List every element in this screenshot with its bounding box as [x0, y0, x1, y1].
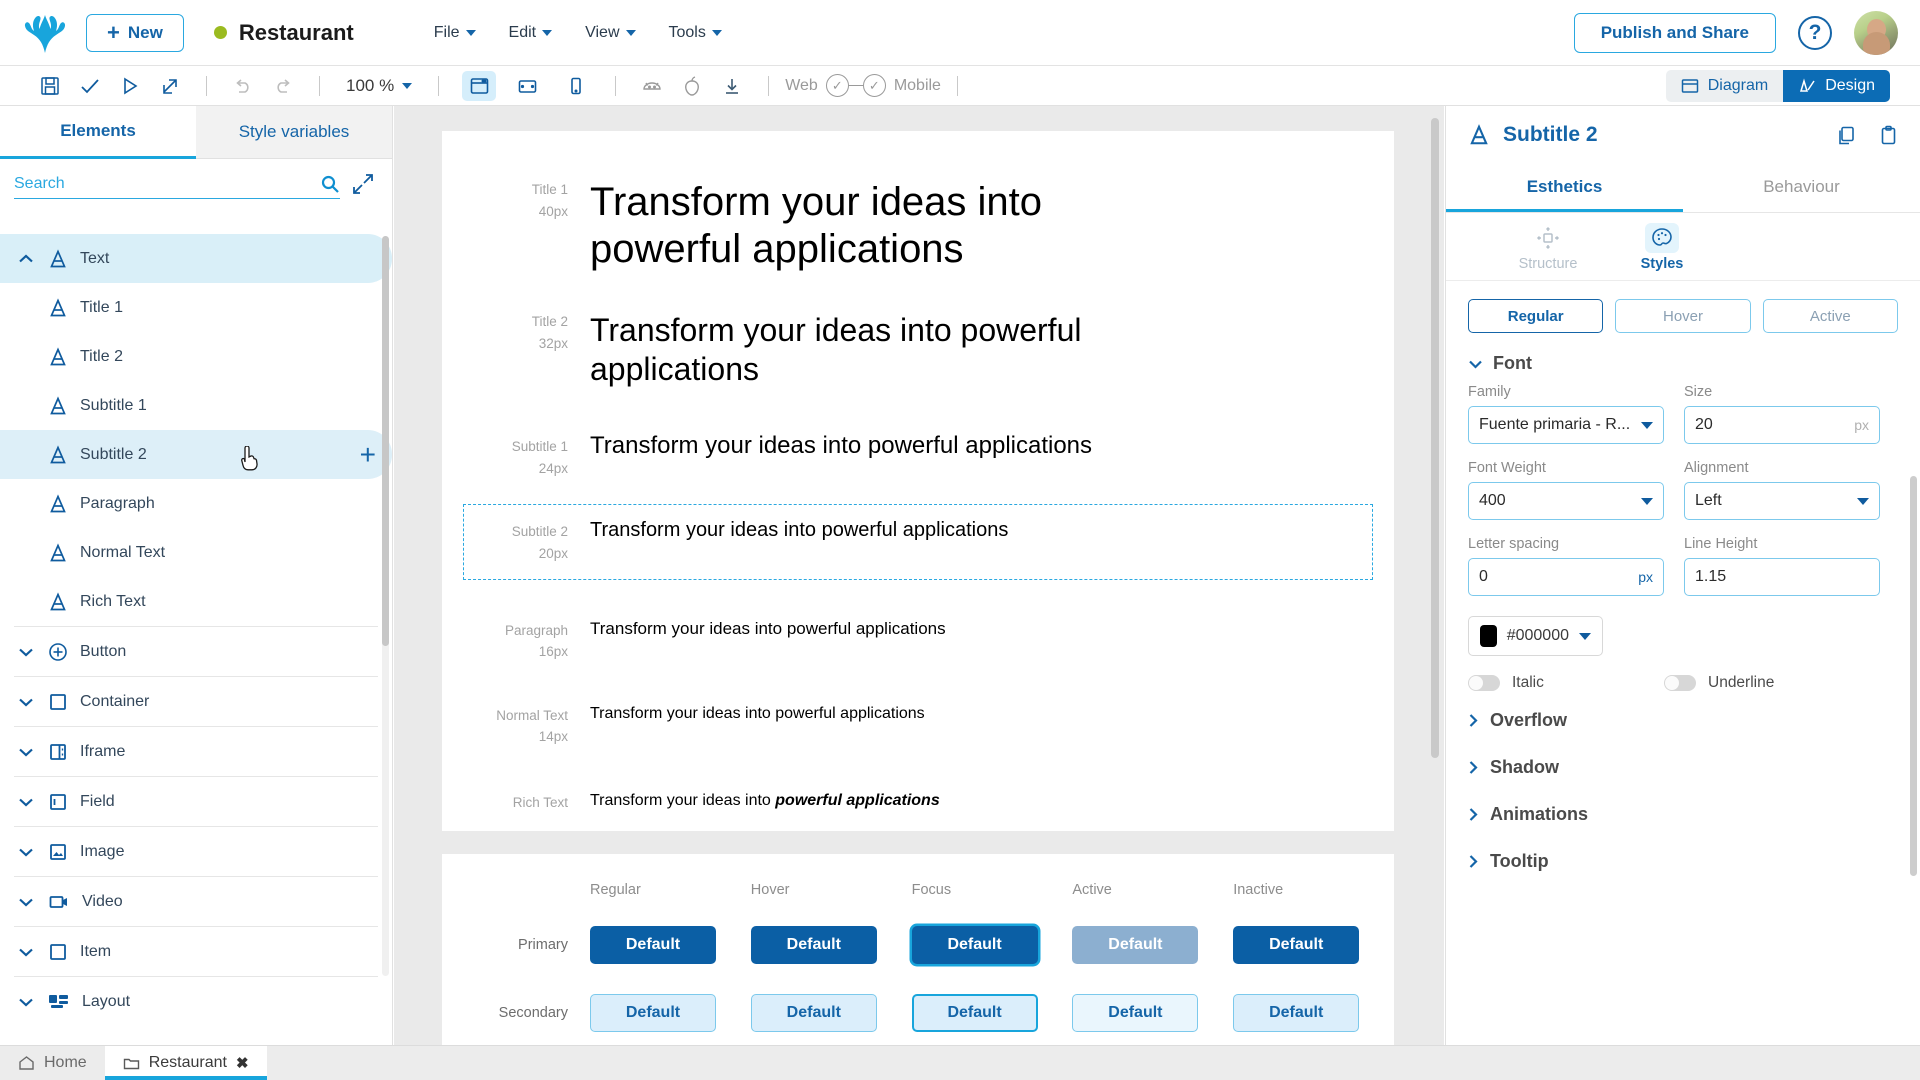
letter-spacing-unit: px [1638, 569, 1653, 585]
android-icon[interactable] [632, 70, 672, 102]
section-tooltip[interactable]: Tooltip [1446, 825, 1920, 872]
sidebar-group-label: Layout [82, 993, 130, 1011]
menu-bar: File Edit View Tools [434, 24, 722, 42]
chevron-down-icon[interactable] [16, 947, 36, 957]
column-header: Focus [912, 882, 1073, 898]
web-mobile-toggle[interactable]: ✓ ✓ [826, 74, 886, 97]
typography-size: 20px [464, 543, 568, 565]
page-title: Restaurant [239, 20, 354, 46]
color-swatch [1480, 625, 1497, 647]
table-cell: Default [590, 994, 751, 1032]
zoom-level-selector[interactable]: 100 % [346, 76, 412, 96]
canvas[interactable]: Title 1 40px Transform your ideas into p… [394, 106, 1444, 1045]
text-a-icon [48, 249, 68, 269]
image-icon [48, 842, 68, 862]
plus-circle-icon [48, 642, 68, 662]
alignment-value: Left [1695, 492, 1857, 510]
font-section-header[interactable]: Font [1446, 333, 1920, 378]
sidebar-group-field[interactable]: Field [0, 777, 392, 826]
field-label: Letter spacing [1468, 536, 1664, 552]
column-header: Regular [590, 882, 751, 898]
table-cell: Default [751, 994, 912, 1032]
sidebar-scrollbar-thumb[interactable] [382, 236, 389, 646]
section-animations-label: Animations [1490, 804, 1588, 825]
toggle-connector [849, 85, 863, 87]
new-button[interactable]: + New [86, 14, 184, 52]
tab-style-variables-label: Style variables [239, 122, 350, 142]
square-icon [48, 942, 68, 962]
column-header: Inactive [1233, 882, 1394, 898]
undo-icon[interactable] [223, 70, 263, 102]
underline-switch[interactable] [1664, 675, 1696, 691]
size-value: 20 [1695, 416, 1848, 434]
typography-sample: Transform your ideas into powerful appli… [590, 432, 1394, 460]
search-icon[interactable] [320, 174, 340, 194]
sidebar-item-label: Paragraph [80, 495, 155, 513]
demo-button-secondary-hover[interactable]: Default [751, 994, 877, 1032]
mode-diagram-label: Diagram [1708, 77, 1768, 95]
typography-size: 14px [442, 726, 568, 748]
field-line-height: Line Height 1.15 [1684, 536, 1880, 596]
palette-icon [1645, 223, 1679, 253]
chevron-down-icon[interactable] [16, 847, 36, 857]
alignment-select[interactable]: Left [1684, 482, 1880, 520]
typography-name: Title 1 [442, 179, 568, 201]
chevron-down-icon [1579, 633, 1591, 640]
properties-panel: Subtitle 2 Esthetics Behaviour [1445, 106, 1920, 1045]
state-active-button[interactable]: Active [1763, 299, 1898, 333]
close-icon[interactable]: ✖ [236, 1054, 249, 1072]
divider [206, 76, 207, 96]
typography-sample: Transform your ideas into powerful appli… [590, 792, 1394, 810]
chevron-up-icon[interactable] [16, 254, 36, 264]
text-a-icon [48, 592, 68, 612]
subtab-structure-label: Structure [1498, 256, 1598, 272]
sidebar-item-paragraph[interactable]: Paragraph [0, 479, 392, 528]
menu-view[interactable]: View [585, 24, 635, 42]
field-font-weight: Font Weight 400 [1468, 460, 1664, 520]
app-logo[interactable] [22, 12, 68, 54]
sidebar-item-title-2[interactable]: Title 2 [0, 332, 392, 381]
section-overflow[interactable]: Overflow [1446, 692, 1920, 731]
typography-row-subtitle-1[interactable]: Subtitle 1 24px Transform your ideas int… [442, 388, 1394, 479]
sidebar-group-iframe[interactable]: Iframe [0, 727, 392, 776]
tab-behaviour-label: Behaviour [1763, 177, 1840, 196]
subtab-structure[interactable]: Structure [1498, 223, 1598, 272]
divider [768, 76, 769, 96]
chevron-down-icon [1857, 498, 1869, 505]
sidebar-group-video[interactable]: Video [0, 877, 392, 926]
mobile-check-icon[interactable]: ✓ [863, 74, 886, 97]
text-a-icon [48, 543, 68, 563]
demo-button-primary-inactive[interactable]: Default [1233, 926, 1359, 964]
demo-button-secondary-regular[interactable]: Default [590, 994, 716, 1032]
typography-meta: Paragraph 16px [442, 619, 590, 663]
properties-tabs: Esthetics Behaviour [1446, 164, 1920, 213]
typography-row-subtitle-2[interactable]: Subtitle 2 20px Transform your ideas int… [464, 505, 1372, 578]
chevron-down-icon [402, 83, 412, 89]
field-label: Font Weight [1468, 460, 1664, 476]
mode-diagram-button[interactable]: Diagram [1666, 70, 1783, 102]
menu-tools[interactable]: Tools [669, 24, 722, 42]
table-cell: Default [912, 994, 1073, 1032]
chevron-down-icon [542, 30, 552, 36]
tablet-icon[interactable] [510, 71, 544, 101]
table-cell: Default [912, 926, 1073, 964]
field-label: Alignment [1684, 460, 1880, 476]
tab-style-variables[interactable]: Style variables [196, 106, 392, 159]
text-a-icon [48, 298, 68, 318]
line-height-value: 1.15 [1695, 568, 1869, 586]
mode-design-label: Design [1825, 77, 1875, 95]
sidebar-group-label: Container [80, 693, 149, 711]
typography-meta: Subtitle 2 20px [464, 519, 590, 564]
header-actions [1836, 125, 1898, 146]
font-toggles: Italic Underline [1446, 656, 1920, 692]
help-icon[interactable]: ? [1798, 16, 1832, 50]
chevron-down-icon[interactable] [16, 747, 36, 757]
properties-subtabs: Structure Styles [1446, 213, 1920, 281]
toggle-underline[interactable]: Underline [1664, 674, 1860, 692]
field-label: Family [1468, 384, 1664, 400]
typography-meta: Title 1 40px [442, 179, 590, 222]
menu-view-label: View [585, 24, 619, 42]
iframe-icon [48, 742, 68, 762]
font-section-title: Font [1493, 353, 1532, 374]
field-letter-spacing: Letter spacing 0 px [1468, 536, 1664, 596]
check-icon[interactable] [70, 70, 110, 102]
menu-edit-label: Edit [509, 24, 537, 42]
left-panel-tabs: Elements Style variables [0, 106, 392, 159]
web-check-icon[interactable]: ✓ [826, 74, 849, 97]
subtab-styles[interactable]: Styles [1612, 223, 1712, 272]
sidebar-group-label: Item [80, 943, 111, 961]
play-icon[interactable] [110, 70, 150, 102]
layout-icon [48, 993, 70, 1011]
sidebar-item-title-1[interactable]: Title 1 [0, 283, 392, 332]
search-field-wrapper[interactable] [14, 169, 340, 199]
tab-esthetics[interactable]: Esthetics [1446, 164, 1683, 212]
typography-size: 16px [442, 641, 568, 663]
properties-scrollbar-thumb[interactable] [1910, 476, 1917, 876]
typography-row-rich-text[interactable]: Rich Text Transform your ideas into powe… [442, 748, 1394, 814]
typography-sample: Transform your ideas into powerful appli… [590, 311, 1230, 388]
sidebar-group-layout[interactable]: Layout [0, 977, 392, 1026]
sidebar-item-label: Normal Text [80, 544, 165, 562]
table-cell: Default [1233, 926, 1394, 964]
divider [319, 76, 320, 96]
field-label: Line Height [1684, 536, 1880, 552]
typography-card: Title 1 40px Transform your ideas into p… [442, 131, 1394, 831]
font-weight-value: 400 [1479, 492, 1641, 510]
sidebar-item-label: Subtitle 2 [80, 446, 147, 464]
text-a-icon [48, 445, 68, 465]
menu-file[interactable]: File [434, 24, 476, 42]
elements-tree[interactable]: Text Title 1 Title 2 Subti [0, 234, 392, 1045]
demo-button-primary-focus[interactable]: Default [912, 926, 1038, 964]
sidebar-item-label: Subtitle 1 [80, 397, 147, 415]
text-a-icon [1468, 124, 1490, 146]
line-height-input[interactable]: 1.15 [1684, 558, 1880, 596]
subtab-styles-label: Styles [1612, 256, 1712, 272]
section-overflow-label: Overflow [1490, 710, 1567, 731]
field-label: Size [1684, 384, 1880, 400]
sidebar-group-label: Image [80, 843, 124, 861]
chevron-down-icon[interactable] [16, 697, 36, 707]
font-color-picker[interactable]: #000000 [1468, 616, 1603, 656]
top-bar: + New Restaurant File Edit View Tools Pu… [0, 0, 1920, 66]
menu-tools-label: Tools [669, 24, 706, 42]
letter-spacing-input[interactable]: 0 px [1468, 558, 1664, 596]
table-cell: Default [1072, 926, 1233, 964]
taskbar-tab-home[interactable]: Home [0, 1046, 105, 1080]
field-alignment: Alignment Left [1684, 460, 1880, 520]
chevron-down-icon [712, 30, 722, 36]
mobile-label: Mobile [894, 77, 941, 95]
export-icon[interactable] [150, 70, 190, 102]
buttons-state-table: Regular Hover Focus Active Inactive Prim… [442, 854, 1394, 1032]
chevron-right-icon [1468, 807, 1479, 822]
column-header: Active [1072, 882, 1233, 898]
save-icon[interactable] [30, 70, 70, 102]
plus-icon: + [107, 22, 120, 44]
demo-button-secondary-inactive[interactable]: Default [1233, 994, 1359, 1032]
publish-button-label: Publish and Share [1601, 23, 1749, 43]
mode-switch: Diagram Design [1666, 70, 1890, 102]
color-value: #000000 [1507, 627, 1569, 645]
table-cell: Default [1072, 994, 1233, 1032]
sidebar-group-text-label: Text [80, 250, 109, 268]
sidebar-item-normal-text[interactable]: Normal Text [0, 528, 392, 577]
chevron-down-icon [1641, 498, 1653, 505]
sidebar-group-container[interactable]: Container [0, 677, 392, 726]
demo-button-primary-hover[interactable]: Default [751, 926, 877, 964]
new-button-label: New [128, 23, 163, 43]
typography-row-title-1[interactable]: Title 1 40px Transform your ideas into p… [442, 131, 1394, 273]
toggle-italic[interactable]: Italic [1468, 674, 1664, 692]
typography-size: 24px [442, 458, 568, 480]
chevron-down-icon[interactable] [16, 897, 36, 907]
table-cell: Default [590, 926, 751, 964]
mode-design-button[interactable]: Design [1783, 70, 1890, 102]
properties-title: Subtitle 2 [1503, 123, 1598, 147]
demo-button-primary-regular[interactable]: Default [590, 926, 716, 964]
properties-header: Subtitle 2 [1446, 106, 1920, 164]
text-a-icon [48, 494, 68, 514]
chevron-down-icon [1641, 422, 1653, 429]
italic-switch[interactable] [1468, 675, 1500, 691]
typography-row-paragraph[interactable]: Paragraph 16px Transform your ideas into… [442, 579, 1394, 663]
chevron-down-icon [626, 30, 636, 36]
chevron-right-icon [1468, 760, 1479, 775]
typography-sample: Transform your ideas into powerful appli… [590, 619, 1394, 639]
search-row [0, 159, 392, 209]
typography-meta: Rich Text [442, 792, 590, 814]
chevron-right-icon [1468, 854, 1479, 869]
toolbar: 100 % Web [0, 66, 1920, 106]
divider [615, 76, 616, 96]
typography-name: Paragraph [442, 620, 568, 642]
typography-row-normal-text[interactable]: Normal Text 14px Transform your ideas in… [442, 663, 1394, 748]
family-value: Fuente primaria - R... [1479, 416, 1641, 434]
table-row: Secondary Default Default Default Defaul… [442, 994, 1394, 1032]
menu-edit[interactable]: Edit [509, 24, 553, 42]
rich-text-plain: Transform your ideas into [590, 792, 775, 809]
font-fields: Family Fuente primaria - R... Size 20 px… [1446, 378, 1920, 612]
letter-spacing-value: 0 [1479, 568, 1632, 586]
sidebar-group-label: Field [80, 793, 115, 811]
style-state-selector: Regular Hover Active [1446, 281, 1920, 333]
left-panel: Elements Style variables [0, 106, 393, 1045]
mobile-icon[interactable] [558, 71, 592, 101]
tab-behaviour[interactable]: Behaviour [1683, 164, 1920, 212]
typography-sample: Transform your ideas into powerful appli… [590, 519, 1372, 542]
typography-row-title-2[interactable]: Title 2 32px Transform your ideas into p… [442, 273, 1394, 388]
expand-icon[interactable] [352, 173, 374, 195]
sidebar-item-label: Title 1 [80, 299, 123, 317]
row-header: Primary [442, 937, 590, 953]
table-cell: Default [1233, 994, 1394, 1032]
chevron-down-icon[interactable] [16, 797, 36, 807]
sidebar-group-image[interactable]: Image [0, 827, 392, 876]
status-dot [214, 26, 227, 39]
demo-button-secondary-focus[interactable]: Default [912, 994, 1038, 1032]
help-glyph: ? [1809, 21, 1822, 45]
canvas-scrollbar-thumb[interactable] [1431, 118, 1439, 758]
typography-name: Normal Text [442, 705, 568, 727]
chevron-right-icon [1468, 713, 1479, 728]
italic-label: Italic [1512, 674, 1544, 692]
taskbar-tab-restaurant[interactable]: Restaurant ✖ [105, 1046, 267, 1080]
zoom-level-value: 100 % [346, 76, 394, 96]
topbar-right-group: Publish and Share ? [1574, 11, 1898, 55]
sidebar-item-subtitle-1[interactable]: Subtitle 1 [0, 381, 392, 430]
sidebar-group-text[interactable]: Text [0, 234, 392, 283]
section-animations[interactable]: Animations [1446, 778, 1920, 825]
video-icon [48, 892, 70, 912]
sidebar-item-rich-text[interactable]: Rich Text [0, 577, 392, 626]
sidebar-group-label: Video [82, 893, 123, 911]
clipboard-icon[interactable] [1879, 125, 1898, 146]
sidebar-item-subtitle-2[interactable]: Subtitle 2 + [0, 430, 392, 479]
divider [957, 76, 958, 96]
table-cell: Default [751, 926, 912, 964]
square-icon [48, 692, 68, 712]
section-shadow-label: Shadow [1490, 757, 1559, 778]
underline-label: Underline [1708, 674, 1774, 692]
demo-button-primary-active[interactable]: Default [1072, 926, 1198, 964]
sidebar-item-label: Rich Text [80, 593, 146, 611]
add-element-button[interactable]: + [360, 441, 376, 469]
avatar[interactable] [1854, 11, 1898, 55]
apple-icon[interactable] [672, 70, 712, 102]
text-a-icon [48, 396, 68, 416]
chevron-down-icon[interactable] [16, 647, 36, 657]
table-row: Primary Default Default Default Default … [442, 926, 1394, 964]
demo-button-secondary-active[interactable]: Default [1072, 994, 1198, 1032]
bottom-tab-bar: Home Restaurant ✖ [0, 1045, 1920, 1080]
field-icon [48, 792, 68, 812]
sidebar-item-label: Title 2 [80, 348, 123, 366]
divider [438, 76, 439, 96]
project-indicator: Restaurant [214, 20, 354, 46]
size-input[interactable]: 20 px [1684, 406, 1880, 444]
typography-size: 40px [442, 201, 568, 223]
typography-sample: Transform your ideas into powerful appli… [590, 705, 1394, 723]
family-select[interactable]: Fuente primaria - R... [1468, 406, 1664, 444]
sidebar-group-label: Iframe [80, 743, 125, 761]
field-size: Size 20 px [1684, 384, 1880, 444]
typography-name: Rich Text [442, 792, 568, 814]
section-shadow[interactable]: Shadow [1446, 731, 1920, 778]
state-regular-button[interactable]: Regular [1468, 299, 1603, 333]
row-header: Secondary [442, 1005, 590, 1021]
typography-size: 32px [442, 333, 568, 355]
tab-elements[interactable]: Elements [0, 106, 196, 159]
section-tooltip-label: Tooltip [1490, 851, 1549, 872]
chevron-down-icon [1468, 359, 1483, 369]
chevron-down-icon [466, 30, 476, 36]
structure-icon [1531, 223, 1565, 253]
typography-name: Subtitle 2 [464, 521, 568, 543]
font-weight-select[interactable]: 400 [1468, 482, 1664, 520]
taskbar-tab-home-label: Home [44, 1054, 87, 1072]
tab-esthetics-label: Esthetics [1527, 177, 1603, 196]
taskbar-tab-restaurant-label: Restaurant [149, 1054, 227, 1072]
field-family: Family Fuente primaria - R... [1468, 384, 1664, 444]
chevron-down-icon[interactable] [16, 997, 36, 1007]
sidebar-group-button[interactable]: Button [0, 627, 392, 676]
typography-name: Title 2 [442, 311, 568, 333]
sidebar-group-item[interactable]: Item [0, 927, 392, 976]
desktop-icon[interactable] [462, 71, 496, 101]
rich-text-emphasis: powerful applications [775, 792, 939, 809]
typography-meta: Title 2 32px [442, 311, 590, 354]
buttons-card: Regular Hover Focus Active Inactive Prim… [442, 854, 1394, 1045]
menu-file-label: File [434, 24, 460, 42]
web-label: Web [785, 77, 818, 95]
mouse-cursor-icon [240, 446, 262, 474]
copy-icon[interactable] [1836, 125, 1857, 146]
state-hover-button[interactable]: Hover [1615, 299, 1750, 333]
text-a-icon [48, 347, 68, 367]
home-icon [18, 1055, 35, 1071]
typography-sample: Transform your ideas into powerful appli… [590, 179, 1190, 273]
typography-meta: Normal Text 14px [442, 705, 590, 748]
tab-elements-label: Elements [60, 121, 136, 141]
publish-and-share-button[interactable]: Publish and Share [1574, 13, 1776, 53]
typography-name: Subtitle 1 [442, 436, 568, 458]
redo-icon[interactable] [263, 70, 303, 102]
column-header: Hover [751, 882, 912, 898]
folder-icon [123, 1056, 140, 1071]
search-input[interactable] [14, 175, 320, 193]
size-unit: px [1854, 417, 1869, 433]
typography-meta: Subtitle 1 24px [442, 432, 590, 479]
buttons-table-header: Regular Hover Focus Active Inactive [442, 882, 1394, 898]
sidebar-group-label: Button [80, 643, 126, 661]
download-icon[interactable] [712, 70, 752, 102]
